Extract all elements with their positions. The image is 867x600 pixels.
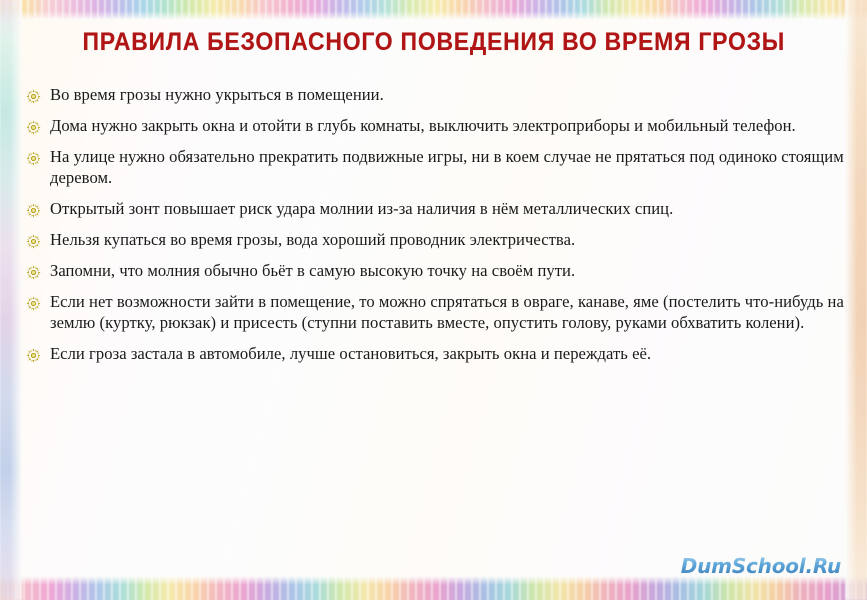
- sun-burst-icon: [26, 348, 41, 363]
- rule-text: Запомни, что молния обычно бьёт в самую …: [50, 260, 575, 281]
- page-title: ПРАВИЛА БЕЗОПАСНОГО ПОВЕДЕНИЯ ВО ВРЕМЯ Г…: [82, 28, 784, 57]
- sun-burst-icon: [26, 89, 41, 104]
- list-item: Запомни, что молния обычно бьёт в самую …: [26, 260, 844, 281]
- sun-burst-icon: [26, 151, 41, 166]
- poster: ПРАВИЛА БЕЗОПАСНОГО ПОВЕДЕНИЯ ВО ВРЕМЯ Г…: [0, 0, 867, 600]
- sun-burst-icon: [26, 265, 41, 280]
- list-item: Нельзя купаться во время грозы, вода хор…: [26, 229, 844, 250]
- list-item: Во время грозы нужно укрыться в помещени…: [26, 84, 844, 105]
- rule-text: Дома нужно закрыть окна и отойти в глубь…: [50, 115, 796, 136]
- sun-burst-icon: [26, 203, 41, 218]
- rule-text: Открытый зонт повышает риск удара молнии…: [50, 198, 673, 219]
- list-item: Дома нужно закрыть окна и отойти в глубь…: [26, 115, 844, 136]
- list-item: Если гроза застала в автомобиле, лучше о…: [26, 343, 844, 364]
- rule-text: Во время грозы нужно укрыться в помещени…: [50, 84, 384, 105]
- list-item: Открытый зонт повышает риск удара молнии…: [26, 198, 844, 219]
- rule-text: На улице нужно обязательно прекратить по…: [50, 146, 844, 188]
- sun-burst-icon: [26, 234, 41, 249]
- rules-list: Во время грозы нужно укрыться в помещени…: [26, 84, 844, 374]
- list-item: Если нет возможности зайти в помещение, …: [26, 291, 844, 333]
- rule-text: Если нет возможности зайти в помещение, …: [50, 291, 844, 333]
- list-item: На улице нужно обязательно прекратить по…: [26, 146, 844, 188]
- sun-burst-icon: [26, 120, 41, 135]
- site-watermark: DumSchool.Ru: [681, 554, 841, 578]
- title-container: ПРАВИЛА БЕЗОПАСНОГО ПОВЕДЕНИЯ ВО ВРЕМЯ Г…: [0, 28, 867, 57]
- rule-text: Нельзя купаться во время грозы, вода хор…: [50, 229, 575, 250]
- rule-text: Если гроза застала в автомобиле, лучше о…: [50, 343, 651, 364]
- sun-burst-icon: [26, 296, 41, 311]
